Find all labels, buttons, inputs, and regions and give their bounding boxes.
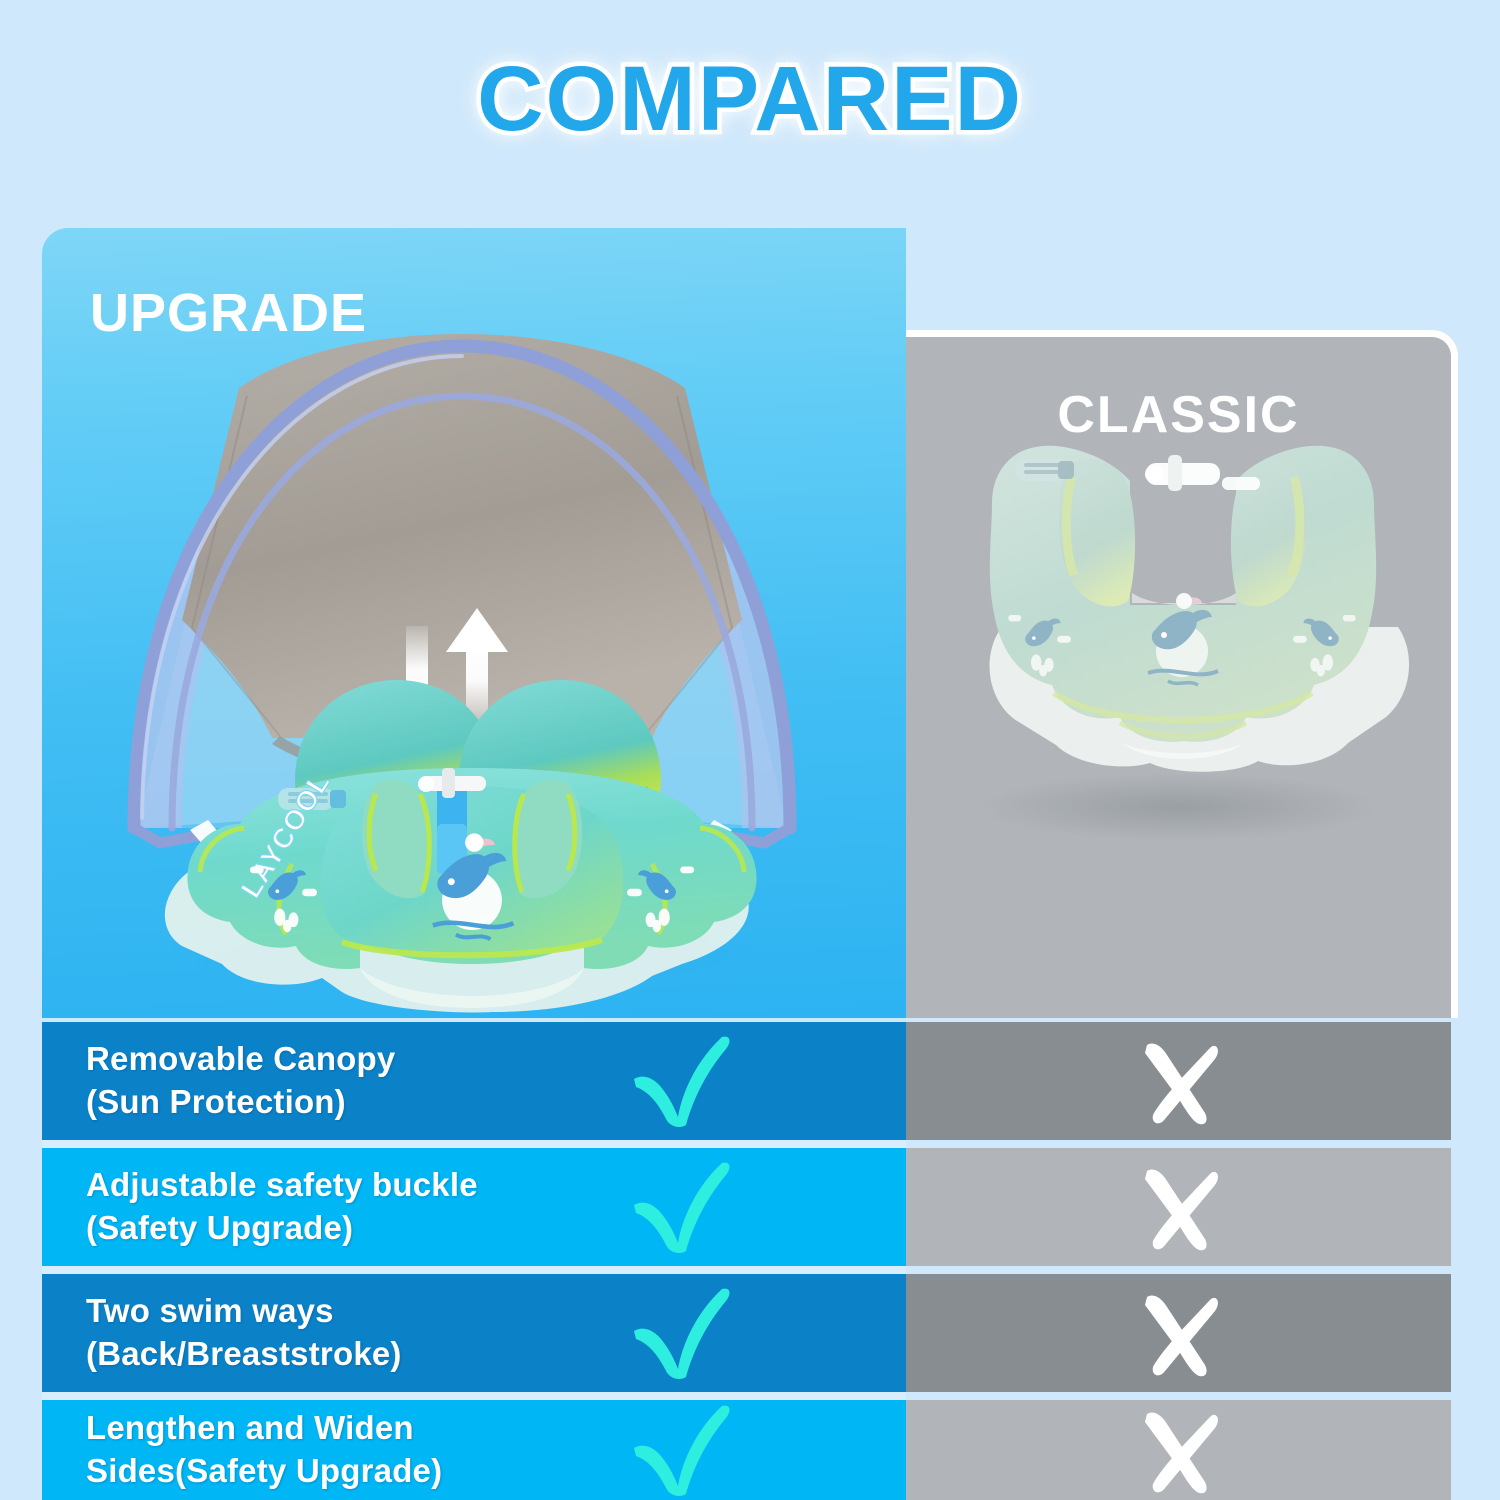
classic-feature-cell <box>906 1274 1458 1392</box>
classic-feature-cell <box>906 1022 1458 1140</box>
classic-feature-cell <box>906 1400 1458 1500</box>
feature-label-line2: Sides(Safety Upgrade) <box>86 1450 442 1493</box>
upgrade-feature-cell: Adjustable safety buckle (Safety Upgrade… <box>42 1148 906 1266</box>
upgrade-feature-cell: Lengthen and Widen Sides(Safety Upgrade) <box>42 1400 906 1500</box>
upgrade-feature-cell: Removable Canopy (Sun Protection) <box>42 1022 906 1140</box>
table-row: Two swim ways (Back/Breaststroke) <box>42 1274 1458 1392</box>
classic-panel: CLASSIC <box>906 330 1458 1018</box>
feature-label-line1: Removable Canopy <box>86 1038 395 1081</box>
table-row: Removable Canopy (Sun Protection) <box>42 1022 1458 1140</box>
cross-icon <box>1131 1159 1227 1255</box>
feature-label: Removable Canopy (Sun Protection) <box>42 1038 395 1124</box>
page-header: COMPARED <box>0 44 1500 154</box>
feature-label-line1: Two swim ways <box>86 1290 402 1333</box>
feature-label-line1: Lengthen and Widen <box>86 1407 442 1450</box>
check-icon <box>626 1159 736 1255</box>
classic-feature-cell <box>906 1148 1458 1266</box>
check-icon <box>626 1033 736 1129</box>
table-row: Lengthen and Widen Sides(Safety Upgrade) <box>42 1400 1458 1500</box>
upgrade-label: UPGRADE <box>90 282 367 344</box>
cross-icon <box>1131 1402 1227 1498</box>
cross-icon <box>1131 1285 1227 1381</box>
page-title: COMPARED <box>477 47 1023 152</box>
classic-label: CLASSIC <box>906 385 1451 445</box>
air-valve-icon <box>1016 459 1074 481</box>
feature-label: Two swim ways (Back/Breaststroke) <box>42 1290 402 1376</box>
table-row: Adjustable safety buckle (Safety Upgrade… <box>42 1148 1458 1266</box>
check-icon <box>626 1402 736 1498</box>
feature-label-line2: (Safety Upgrade) <box>86 1207 478 1250</box>
feature-label-line2: (Sun Protection) <box>86 1081 395 1124</box>
cross-icon <box>1131 1033 1227 1129</box>
feature-comparison-table: Removable Canopy (Sun Protection) Adjust… <box>42 1022 1458 1500</box>
feature-label-line1: Adjustable safety buckle <box>86 1164 478 1207</box>
upgrade-panel: LAYCOOL <box>42 228 906 1018</box>
feature-label-line2: (Back/Breaststroke) <box>86 1333 402 1376</box>
upgrade-feature-cell: Two swim ways (Back/Breaststroke) <box>42 1274 906 1392</box>
connector-clip-icon <box>1145 455 1220 491</box>
upgrade-product-image: LAYCOOL <box>42 228 906 1018</box>
feature-label: Lengthen and Widen Sides(Safety Upgrade) <box>42 1407 442 1493</box>
feature-label: Adjustable safety buckle (Safety Upgrade… <box>42 1164 478 1250</box>
check-icon <box>626 1285 736 1381</box>
